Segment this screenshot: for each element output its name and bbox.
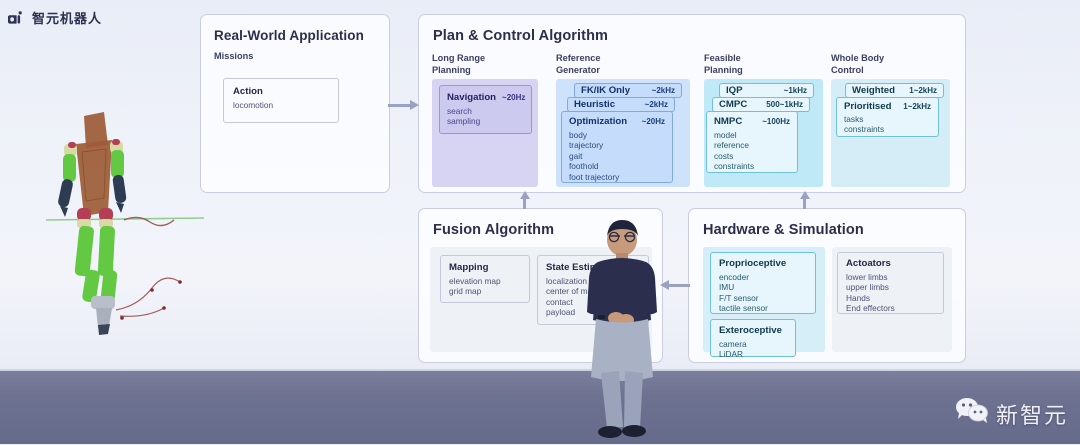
card-mapping-name: Mapping: [449, 262, 488, 273]
card-navigation-hz: ~20Hz: [502, 93, 525, 102]
card-fk-ik-only[interactable]: FK/IK Only ~2kHz: [574, 83, 682, 98]
presenter-person: [576, 218, 668, 440]
column-title-long-range-planning: Long Range Planning: [432, 53, 485, 76]
column-title-reference-generator: Reference Generator: [556, 53, 600, 76]
card-optimization[interactable]: Optimization ~20Hz body trajectory gait …: [561, 111, 673, 183]
card-navigation[interactable]: Navigation ~20Hz search sampling: [439, 85, 532, 134]
card-proprioceptive-item: F/T sensor: [719, 293, 807, 303]
panel-hardware-simulation: Hardware & Simulation Proprioceptive enc…: [688, 208, 966, 363]
card-nmpc[interactable]: NMPC ~100Hz model reference costs constr…: [706, 111, 798, 173]
arrow-fusion-to-plan: [520, 191, 530, 209]
panel-title-real-world: Real-World Application: [214, 28, 364, 43]
watermark: 新智元: [955, 397, 1068, 430]
card-actuators-item: upper limbs: [846, 282, 935, 292]
card-actuators-item: Hands: [846, 293, 935, 303]
card-proprioceptive-item: IMU: [719, 282, 807, 292]
card-proprioceptive[interactable]: Proprioceptive encoder IMU F/T sensor ta…: [710, 252, 816, 314]
card-action-name: Action: [233, 86, 263, 97]
card-nmpc-item: costs: [714, 151, 790, 161]
card-proprioceptive-name: Proprioceptive: [719, 258, 786, 269]
card-cmpc-hz: 500~1kHz: [766, 100, 803, 109]
card-mapping[interactable]: Mapping elevation map grid map: [440, 255, 530, 303]
panel-title-hardware-simulation: Hardware & Simulation: [703, 222, 864, 238]
card-mapping-item: grid map: [449, 286, 521, 296]
column-title-whole-body-control: Whole Body Control: [831, 53, 884, 76]
card-actuators[interactable]: Actoators lower limbs upper limbs Hands …: [837, 252, 944, 314]
arrow-hardware-to-plan: [800, 191, 810, 209]
card-optimization-hz: ~20Hz: [642, 117, 665, 126]
card-prioritised[interactable]: Prioritised 1~2kHz tasks constraints: [836, 97, 939, 137]
card-action[interactable]: Action locomotion: [223, 78, 339, 123]
card-iqp-hz: ~1kHz: [784, 86, 807, 95]
card-proprioceptive-item: encoder: [719, 272, 807, 282]
card-weighted[interactable]: Weighted 1~2kHz: [845, 83, 944, 98]
card-prioritised-name: Prioritised: [844, 101, 891, 112]
card-nmpc-item: reference: [714, 140, 790, 150]
card-nmpc-item: constraints: [714, 161, 790, 171]
card-optimization-item: gait: [569, 151, 665, 161]
card-prioritised-hz: 1~2kHz: [903, 102, 931, 111]
card-mapping-item: elevation map: [449, 276, 521, 286]
card-nmpc-hz: ~100Hz: [762, 117, 790, 126]
card-optimization-item: foothold: [569, 161, 665, 171]
card-exteroceptive-item: LiDAR: [719, 349, 787, 359]
agibot-logo-icon: [8, 11, 26, 25]
card-proprioceptive-item: tactile sensor: [719, 303, 807, 313]
card-cmpc[interactable]: CMPC 500~1kHz: [712, 97, 810, 112]
column-title-feasible-planning: Feasible Planning: [704, 53, 743, 76]
card-navigation-item: sampling: [447, 116, 524, 126]
card-weighted-name: Weighted: [852, 85, 895, 96]
panel-plan-control-algorithm: Plan & Control Algorithm Long Range Plan…: [418, 14, 966, 193]
card-heuristic-name: Heuristic: [574, 99, 615, 110]
card-optimization-item: foot trajectory: [569, 172, 665, 182]
card-optimization-name: Optimization: [569, 116, 627, 127]
card-action-item: locomotion: [233, 100, 329, 110]
card-cmpc-name: CMPC: [719, 99, 747, 110]
stage-floor: [0, 371, 1080, 444]
brand-logo-text: 智元机器人: [32, 8, 102, 27]
card-exteroceptive-name: Exteroceptive: [719, 325, 782, 336]
arrow-realworld-to-plan: [388, 100, 420, 110]
card-navigation-item: search: [447, 106, 524, 116]
card-nmpc-name: NMPC: [714, 116, 742, 127]
card-actuators-item: End effectors: [846, 303, 935, 313]
panel-title-fusion-algorithm: Fusion Algorithm: [433, 222, 554, 238]
card-weighted-hz: 1~2kHz: [909, 86, 937, 95]
card-optimization-item: body: [569, 130, 665, 140]
card-prioritised-item: constraints: [844, 124, 931, 134]
card-optimization-item: trajectory: [569, 140, 665, 150]
card-fk-ik-only-name: FK/IK Only: [581, 85, 630, 96]
panel-real-world-application: Real-World Application Missions Action l…: [200, 14, 390, 193]
card-fk-ik-only-hz: ~2kHz: [652, 86, 675, 95]
card-exteroceptive[interactable]: Exteroceptive camera LiDAR: [710, 319, 796, 357]
watermark-text: 新智元: [996, 398, 1068, 430]
card-exteroceptive-item: camera: [719, 339, 787, 349]
card-nmpc-item: model: [714, 130, 790, 140]
card-iqp[interactable]: IQP ~1kHz: [719, 83, 814, 98]
card-actuators-name: Actoators: [846, 258, 891, 269]
wechat-icon: [955, 397, 989, 430]
subtitle-missions: Missions: [214, 51, 253, 63]
card-heuristic[interactable]: Heuristic ~2kHz: [567, 97, 675, 112]
card-navigation-name: Navigation: [447, 92, 496, 103]
robot-illustration: [46, 100, 206, 345]
card-iqp-name: IQP: [726, 85, 743, 96]
brand-logo: 智元机器人: [8, 8, 102, 27]
card-actuators-item: lower limbs: [846, 272, 935, 282]
card-heuristic-hz: ~2kHz: [645, 100, 668, 109]
card-prioritised-item: tasks: [844, 114, 931, 124]
panel-title-plan-control: Plan & Control Algorithm: [433, 28, 608, 44]
